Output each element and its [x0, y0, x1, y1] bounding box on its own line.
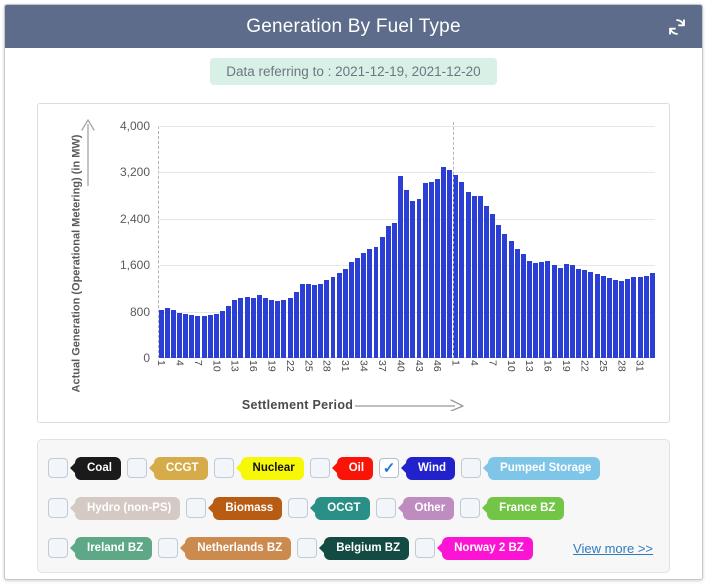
bar[interactable] — [638, 277, 643, 358]
bar[interactable] — [159, 310, 164, 358]
bar[interactable] — [429, 182, 434, 358]
bar[interactable] — [324, 280, 329, 358]
legend-item-wind: ✓Wind — [379, 457, 455, 480]
bar[interactable] — [349, 262, 354, 358]
bar[interactable] — [195, 316, 200, 358]
x-axis-tick-label: 16 — [542, 360, 554, 372]
x-axis-tick-label: 19 — [560, 360, 572, 372]
bar[interactable] — [410, 201, 415, 358]
page-title: Generation By Fuel Type — [246, 16, 460, 38]
legend-row: Ireland BZNetherlands BZBelgium BZNorway… — [48, 528, 659, 568]
bar[interactable] — [472, 196, 477, 358]
bar[interactable] — [417, 199, 422, 358]
checkbox-coal[interactable] — [48, 458, 68, 478]
plot-area: 08001,6002,4003,2004,000 — [158, 126, 655, 358]
bar[interactable] — [447, 170, 452, 359]
fuel-type-legend: CoalCCGTNuclearOil✓WindPumped StorageHyd… — [37, 439, 670, 573]
refresh-icon — [666, 16, 688, 38]
x-axis-tick-label: 16 — [247, 360, 259, 372]
legend-item-nuclear: Nuclear — [214, 457, 304, 480]
bar[interactable] — [564, 264, 569, 358]
x-axis-tick-label: 34 — [358, 360, 370, 372]
bar[interactable] — [318, 284, 323, 358]
bar[interactable] — [607, 278, 612, 358]
legend-item-norway-2-bz: Norway 2 BZ — [415, 537, 533, 560]
bar[interactable] — [245, 297, 250, 358]
legend-badge-label: Nuclear — [253, 462, 295, 474]
x-axis-tick-label: 31 — [634, 360, 646, 372]
legend-item-biomass: Biomass — [186, 497, 282, 520]
legend-badge-label: CCGT — [166, 462, 199, 474]
checkbox-france-bz[interactable] — [460, 498, 480, 518]
bar[interactable] — [300, 284, 305, 358]
checkbox-ccgt[interactable] — [127, 458, 147, 478]
bar[interactable] — [275, 301, 280, 358]
legend-badge-label: Other — [415, 502, 446, 514]
legend-item-coal: Coal — [48, 457, 121, 480]
legend-item-france-bz: France BZ — [460, 497, 564, 520]
y-axis-tick-label: 1,600 — [120, 258, 150, 272]
checkbox-ocgt[interactable] — [288, 498, 308, 518]
bar[interactable] — [625, 279, 630, 358]
bar[interactable] — [208, 315, 213, 359]
legend-badge-pumped-storage[interactable]: Pumped Storage — [488, 457, 600, 480]
bar[interactable] — [380, 237, 385, 358]
bar[interactable] — [545, 261, 550, 358]
x-axis-ticks: 1471013161922252831343740434614710131619… — [158, 360, 655, 400]
x-axis-tick-label: 22 — [578, 360, 590, 372]
x-axis-tick-label: 25 — [597, 360, 609, 372]
bar[interactable] — [288, 298, 293, 358]
legend-item-hydro-non-ps: Hydro (non-PS) — [48, 497, 180, 520]
bar[interactable] — [238, 298, 243, 358]
x-axis-tick-label: 37 — [376, 360, 388, 372]
x-axis-tick-label: 7 — [192, 360, 204, 366]
legend-badge-label: Biomass — [225, 502, 273, 514]
bar[interactable] — [521, 254, 526, 358]
bar[interactable] — [232, 300, 237, 358]
legend-badge-oil[interactable]: Oil — [337, 457, 373, 480]
bar[interactable] — [392, 223, 397, 358]
bar[interactable] — [453, 175, 458, 358]
x-axis-tick-label: 31 — [339, 360, 351, 372]
bar[interactable] — [601, 276, 606, 358]
checkbox-other[interactable] — [376, 498, 396, 518]
x-axis-tick-label: 40 — [394, 360, 406, 372]
bar[interactable] — [183, 314, 188, 358]
bar[interactable] — [502, 234, 507, 358]
bar[interactable] — [478, 196, 483, 358]
bar[interactable] — [220, 311, 225, 358]
x-axis-tick-label: 43 — [413, 360, 425, 372]
x-axis-tick-label: 1 — [450, 360, 462, 366]
bar[interactable] — [355, 258, 360, 358]
legend-badge-label: Belgium BZ — [336, 542, 400, 554]
legend-item-ireland-bz: Ireland BZ — [48, 537, 152, 560]
legend-item-pumped-storage: Pumped Storage — [461, 457, 600, 480]
bar[interactable] — [558, 268, 563, 358]
x-axis-tick-label: 1 — [155, 360, 167, 366]
bar[interactable] — [631, 277, 636, 358]
bar[interactable] — [490, 214, 495, 358]
checkbox-belgium-bz[interactable] — [297, 538, 317, 558]
x-axis-tick-label: 13 — [229, 360, 241, 372]
bar[interactable] — [595, 274, 600, 358]
y-axis-title: Actual Generation (Operational Metering)… — [54, 104, 100, 422]
y-axis-tick-label: 2,400 — [120, 212, 150, 226]
legend-item-other: Other — [376, 497, 455, 520]
bar[interactable] — [214, 314, 219, 358]
bar[interactable] — [515, 249, 520, 358]
panel-header: Generation By Fuel Type — [5, 5, 702, 48]
checkbox-netherlands-bz[interactable] — [158, 538, 178, 558]
bar[interactable] — [251, 298, 256, 358]
bar[interactable] — [496, 225, 501, 358]
legend-item-oil: Oil — [310, 457, 373, 480]
bar[interactable] — [367, 249, 372, 358]
date-row: Data referring to : 2021-12-19, 2021-12-… — [5, 48, 702, 94]
bar[interactable] — [539, 262, 544, 358]
checkbox-biomass[interactable] — [186, 498, 206, 518]
bar[interactable] — [441, 167, 446, 358]
checkbox-oil[interactable] — [310, 458, 330, 478]
check-icon: ✓ — [383, 461, 396, 476]
bar[interactable] — [331, 277, 336, 358]
x-axis-tick-label: 13 — [523, 360, 535, 372]
legend-badge-coal[interactable]: Coal — [75, 457, 121, 480]
legend-badge-netherlands-bz[interactable]: Netherlands BZ — [185, 537, 291, 560]
bar[interactable] — [588, 272, 593, 358]
bar[interactable] — [263, 298, 268, 358]
x-axis-tick-label: 28 — [321, 360, 333, 372]
x-axis-tick-label: 25 — [302, 360, 314, 372]
legend-row: CoalCCGTNuclearOil✓WindPumped Storage — [48, 448, 659, 488]
x-axis-tick-label: 4 — [173, 360, 185, 366]
legend-badge-norway-2-bz[interactable]: Norway 2 BZ — [442, 537, 533, 560]
bar[interactable] — [177, 313, 182, 358]
bar[interactable] — [374, 247, 379, 358]
legend-badge-hydro-non-ps[interactable]: Hydro (non-PS) — [75, 497, 180, 520]
y-axis-tick-label: 4,000 — [120, 119, 150, 133]
bar[interactable] — [650, 273, 655, 358]
legend-badge-label: France BZ — [499, 502, 555, 514]
checkbox-hydro-non-ps[interactable] — [48, 498, 68, 518]
legend-item-ccgt: CCGT — [127, 457, 208, 480]
bar[interactable] — [613, 280, 618, 358]
legend-badge-label: Ireland BZ — [87, 542, 143, 554]
x-axis-tick-label: 10 — [505, 360, 517, 372]
bar[interactable] — [552, 265, 557, 358]
bar[interactable] — [337, 273, 342, 358]
bar[interactable] — [404, 190, 409, 358]
bar-series — [158, 126, 655, 358]
legend-badge-biomass[interactable]: Biomass — [213, 497, 282, 520]
generation-panel: Generation By Fuel Type Data referring t… — [4, 4, 703, 580]
bar[interactable] — [423, 183, 428, 358]
bar[interactable] — [533, 263, 538, 358]
x-axis-title-text: Settlement Period — [242, 398, 353, 412]
x-axis-tick-label: 22 — [284, 360, 296, 372]
x-axis-tick-label: 4 — [468, 360, 480, 366]
legend-badge-other[interactable]: Other — [403, 497, 455, 520]
legend-badge-label: Hydro (non-PS) — [87, 502, 171, 514]
bar[interactable] — [294, 292, 299, 358]
bar[interactable] — [484, 206, 489, 358]
bar[interactable] — [466, 192, 471, 358]
legend-badge-ireland-bz[interactable]: Ireland BZ — [75, 537, 152, 560]
chart-container: Actual Generation (Operational Metering)… — [37, 103, 670, 423]
bar[interactable] — [202, 316, 207, 358]
data-reference-badge: Data referring to : 2021-12-19, 2021-12-… — [210, 58, 496, 85]
bar[interactable] — [257, 295, 262, 358]
x-axis-tick-label: 46 — [431, 360, 443, 372]
bar[interactable] — [644, 276, 649, 358]
legend-item-ocgt: OCGT — [288, 497, 369, 520]
legend-badge-ocgt[interactable]: OCGT — [315, 497, 369, 520]
legend-badge-wind[interactable]: Wind — [406, 457, 455, 480]
bar[interactable] — [281, 300, 286, 358]
x-axis-title: Settlement Period — [38, 398, 669, 412]
bar[interactable] — [619, 281, 624, 358]
legend-badge-label: Coal — [87, 462, 112, 474]
bar[interactable] — [582, 270, 587, 358]
bar[interactable] — [312, 285, 317, 358]
view-more-link[interactable]: View more >> — [573, 541, 653, 556]
legend-badge-label: OCGT — [327, 502, 360, 514]
y-axis-tick-label: 800 — [130, 305, 150, 319]
bar[interactable] — [527, 261, 532, 358]
x-axis-tick-label: 7 — [486, 360, 498, 366]
y-axis-tick-label: 3,200 — [120, 165, 150, 179]
legend-item-belgium-bz: Belgium BZ — [297, 537, 409, 560]
refresh-button[interactable] — [664, 14, 690, 40]
bar[interactable] — [509, 241, 514, 358]
legend-badge-france-bz[interactable]: France BZ — [487, 497, 564, 520]
bar[interactable] — [343, 269, 348, 358]
checkbox-norway-2-bz[interactable] — [415, 538, 435, 558]
day-divider-line — [453, 122, 454, 358]
bar[interactable] — [570, 265, 575, 358]
bar[interactable] — [269, 300, 274, 358]
legend-row: Hydro (non-PS)BiomassOCGTOtherFrance BZ — [48, 488, 659, 528]
bar[interactable] — [226, 306, 231, 358]
checkbox-nuclear[interactable] — [214, 458, 234, 478]
y-axis-tick-label: 0 — [143, 351, 150, 365]
legend-badge-label: Pumped Storage — [500, 462, 591, 474]
legend-badge-belgium-bz[interactable]: Belgium BZ — [324, 537, 409, 560]
legend-badge-label: Netherlands BZ — [197, 542, 282, 554]
bar[interactable] — [361, 253, 366, 358]
bar[interactable] — [165, 308, 170, 358]
legend-badge-label: Wind — [418, 462, 446, 474]
bar[interactable] — [576, 269, 581, 358]
x-axis-tick-label: 28 — [615, 360, 627, 372]
checkbox-wind[interactable]: ✓ — [379, 458, 399, 478]
x-axis-tick-label: 19 — [266, 360, 278, 372]
checkbox-ireland-bz[interactable] — [48, 538, 68, 558]
bar[interactable] — [459, 182, 464, 358]
app-root: Generation By Fuel Type Data referring t… — [0, 0, 711, 586]
checkbox-pumped-storage[interactable] — [461, 458, 481, 478]
legend-badge-label: Oil — [349, 462, 364, 474]
x-axis-tick-label: 10 — [210, 360, 222, 372]
bar[interactable] — [435, 179, 440, 358]
legend-item-netherlands-bz: Netherlands BZ — [158, 537, 291, 560]
bar[interactable] — [386, 226, 391, 358]
bar[interactable] — [189, 315, 194, 358]
y-axis-title-text: Actual Generation (Operational Metering)… — [71, 134, 84, 392]
legend-badge-nuclear[interactable]: Nuclear — [241, 457, 304, 480]
bar[interactable] — [398, 176, 403, 358]
bar[interactable] — [171, 310, 176, 358]
bar[interactable] — [306, 284, 311, 358]
x-axis-arrow-icon — [355, 399, 465, 411]
legend-badge-label: Norway 2 BZ — [454, 542, 524, 554]
legend-badge-ccgt[interactable]: CCGT — [154, 457, 208, 480]
